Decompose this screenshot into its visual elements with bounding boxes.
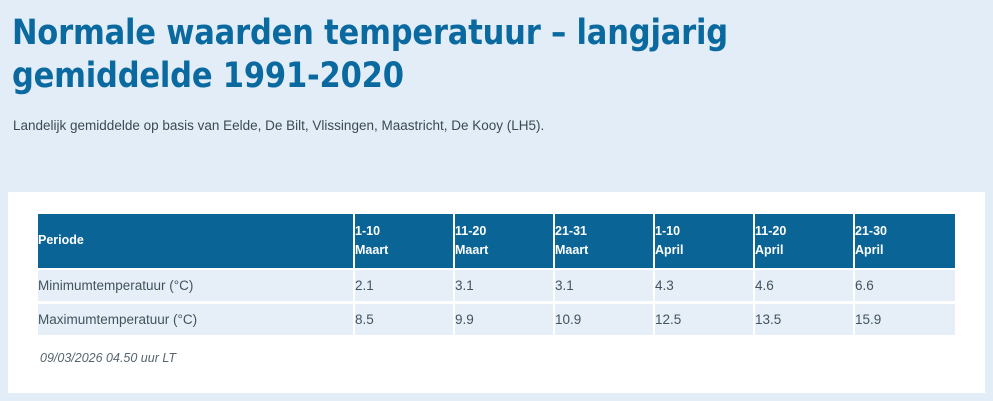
- cell-min-1-10-maart: 2.1: [355, 268, 455, 301]
- column-header-21-31-maart-line2: Maart: [555, 241, 653, 260]
- column-header-1-10-maart-line1: 1-10: [355, 222, 453, 241]
- column-header-1-10-maart: 1-10 Maart: [355, 214, 455, 268]
- cell-min-11-20-maart: 3.1: [455, 268, 555, 301]
- table-header-row: Periode 1-10 Maart 11-20 Maart 21-31 M: [38, 214, 955, 268]
- column-header-11-20-maart-line2: Maart: [455, 241, 553, 260]
- table-head: Periode 1-10 Maart 11-20 Maart 21-31 M: [38, 214, 955, 268]
- row-label-minimumtemperatuur: Minimumtemperatuur (°C): [38, 268, 355, 301]
- column-header-1-10-maart-line2: Maart: [355, 241, 453, 260]
- column-header-21-30-april-line1: 21-30: [855, 222, 955, 241]
- column-header-11-20-maart: 11-20 Maart: [455, 214, 555, 268]
- page-subtitle: Landelijk gemiddelde op basis van Eelde,…: [10, 97, 979, 135]
- cell-min-21-30-april: 6.6: [855, 268, 955, 301]
- column-header-1-10-april: 1-10 April: [655, 214, 755, 268]
- column-header-21-30-april: 21-30 April: [855, 214, 955, 268]
- normals-table: Periode 1-10 Maart 11-20 Maart 21-31 M: [38, 214, 955, 335]
- column-header-11-20-april-line2: April: [755, 241, 853, 260]
- column-header-periode-line1: Periode: [38, 231, 353, 250]
- table-row: Maximumtemperatuur (°C) 8.5 9.9 10.9 12.…: [38, 301, 955, 335]
- table-body: Minimumtemperatuur (°C) 2.1 3.1 3.1 4.3 …: [38, 268, 955, 335]
- column-header-21-30-april-line2: April: [855, 241, 955, 260]
- table-row: Minimumtemperatuur (°C) 2.1 3.1 3.1 4.3 …: [38, 268, 955, 301]
- page-title: Normale waarden temperatuur – langjarig …: [10, 8, 866, 97]
- cell-max-11-20-april: 13.5: [755, 301, 855, 335]
- cell-min-21-31-maart: 3.1: [555, 268, 655, 301]
- column-header-21-31-maart: 21-31 Maart: [555, 214, 655, 268]
- column-header-1-10-april-line2: April: [655, 241, 753, 260]
- table-card: Periode 1-10 Maart 11-20 Maart 21-31 M: [8, 192, 985, 393]
- cell-min-11-20-april: 4.6: [755, 268, 855, 301]
- cell-min-1-10-april: 4.3: [655, 268, 755, 301]
- column-header-11-20-april: 11-20 April: [755, 214, 855, 268]
- table-timestamp: 09/03/2026 04.50 uur LT: [38, 335, 955, 365]
- cell-max-11-20-maart: 9.9: [455, 301, 555, 335]
- cell-max-1-10-april: 12.5: [655, 301, 755, 335]
- column-header-21-31-maart-line1: 21-31: [555, 222, 653, 241]
- row-label-maximumtemperatuur: Maximumtemperatuur (°C): [38, 301, 355, 335]
- cell-max-1-10-maart: 8.5: [355, 301, 455, 335]
- page-root: Normale waarden temperatuur – langjarig …: [0, 0, 993, 401]
- column-header-periode: Periode: [38, 214, 355, 268]
- page-header: Normale waarden temperatuur – langjarig …: [0, 0, 993, 135]
- cell-max-21-30-april: 15.9: [855, 301, 955, 335]
- column-header-11-20-april-line1: 11-20: [755, 222, 853, 241]
- table-card-inner: Periode 1-10 Maart 11-20 Maart 21-31 M: [8, 192, 985, 365]
- column-header-1-10-april-line1: 1-10: [655, 222, 753, 241]
- column-header-11-20-maart-line1: 11-20: [455, 222, 553, 241]
- cell-max-21-31-maart: 10.9: [555, 301, 655, 335]
